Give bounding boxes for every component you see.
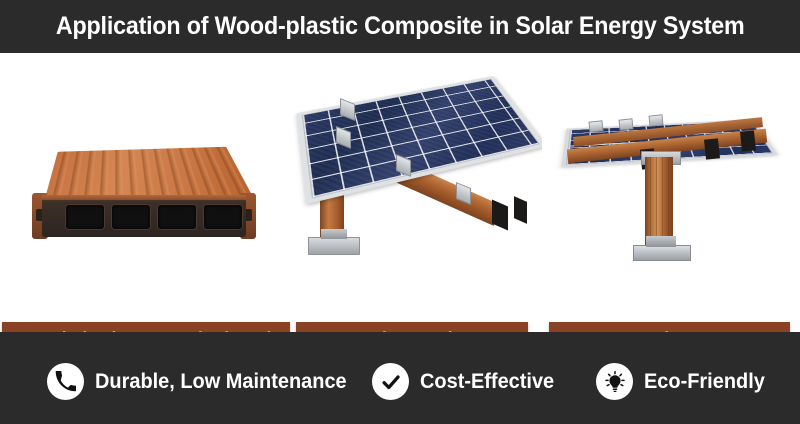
feature-label: Durable, Low Maintenance [95,370,347,394]
wpc-solar-panel-frame-image [292,57,542,265]
deck-chamber [158,205,196,229]
panel-clamp [618,118,633,130]
frame-beam-cap [514,196,527,224]
infographic-root: Application of Wood-plastic Composite in… [0,0,800,424]
wpc-decking-board-image [8,61,288,261]
frame-beam-cap [492,199,508,230]
deck-front-face [42,195,246,237]
footer-band: Durable, Low Maintenance Cost-Effective [0,332,800,424]
panel-clamp [648,114,663,126]
phone-icon [47,363,84,400]
feature-label: Cost-Effective [420,370,554,394]
mount-bracket [704,138,720,159]
wpc-mounting-structure-image [545,53,795,265]
deck-chamber [66,205,104,229]
page-title: Application of Wood-plastic Composite in… [56,12,745,41]
lightbulb-icon [596,363,633,400]
deck-chamber [112,205,150,229]
check-icon [372,363,409,400]
deck-chamber [204,205,242,229]
frame-base-plate [308,237,360,255]
panel-clamp [588,120,603,132]
feature-durable-low-maintenance: Durable, Low Maintenance [47,363,360,400]
feature-eco-friendly: Eco-Friendly [596,363,771,400]
column-base-plate [633,245,691,261]
feature-cost-effective: Cost-Effective [372,363,561,400]
feature-label: Eco-Friendly [644,370,765,394]
content-area: Wood-plastic Composite (WPC) WPC Solar P… [0,53,800,332]
header-band: Application of Wood-plastic Composite in… [0,0,800,53]
mount-bracket [740,130,756,151]
